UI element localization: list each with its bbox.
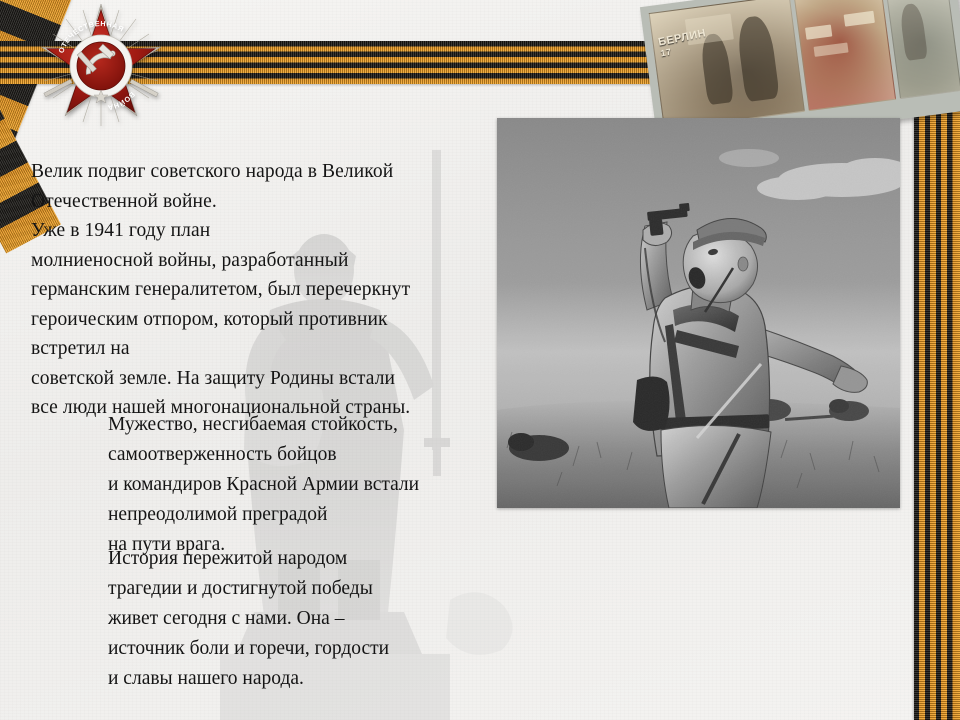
body-text-line: Отечественной войне.: [31, 187, 501, 217]
collage-figure: [699, 32, 734, 105]
collage-placard: [685, 13, 734, 45]
body-text-line: и славы нашего народа.: [108, 664, 508, 694]
body-text-paragraph-2: Мужество, несгибаемая стойкость,самоотве…: [108, 410, 528, 560]
st-george-ribbon-vertical: [914, 30, 960, 720]
body-text-line: источник боли и горечи, гордости: [108, 634, 508, 664]
body-text-line: самоотверженность бойцов: [108, 440, 528, 470]
body-text-line: германским генералитетом, был перечеркну…: [31, 275, 501, 305]
presentation-slide: ОТЕЧЕСТВЕННАЯ ВОЙНА: [0, 0, 960, 720]
collage-placard: [814, 42, 849, 56]
collage-figure: [735, 14, 780, 102]
order-of-the-patriotic-war-medal: ОТЕЧЕСТВЕННАЯ ВОЙНА: [37, 2, 165, 130]
collage-placard: [805, 24, 832, 39]
collage-photo-berlin: БЕРЛИН 17: [649, 0, 805, 130]
body-text-line: и командиров Красной Армии встали: [108, 470, 528, 500]
body-text-line: героическим отпором, который противник: [31, 305, 501, 335]
body-text-line: советской земле. На защиту Родины встали: [31, 364, 501, 394]
body-text-line: живет сегодня с нами. Она –: [108, 604, 508, 634]
body-text-line: Мужество, несгибаемая стойкость,: [108, 410, 528, 440]
kombat-photo: [497, 118, 900, 508]
body-text-line: встретил на: [31, 334, 501, 364]
body-text-line: История пережитой народом: [108, 544, 508, 574]
body-text-line: Велик подвиг советского народа в Великой: [31, 157, 501, 187]
body-text-paragraph-3: История пережитой народомтрагедии и дост…: [108, 544, 508, 694]
body-text-line: молниеносной войны, разработанный: [31, 246, 501, 276]
body-text-line: трагедии и достигнутой победы: [108, 574, 508, 604]
collage-photo-reichstag: [793, 0, 896, 111]
collage-photo-chronicle: [885, 0, 960, 99]
body-text-paragraph-1: Велик подвиг советского народа в Великой…: [31, 157, 501, 423]
collage-figure: [899, 3, 928, 61]
collage-placard: [844, 11, 875, 27]
body-text-line: Уже в 1941 году план: [31, 216, 501, 246]
body-text-line: непреодолимой преградой: [108, 500, 528, 530]
